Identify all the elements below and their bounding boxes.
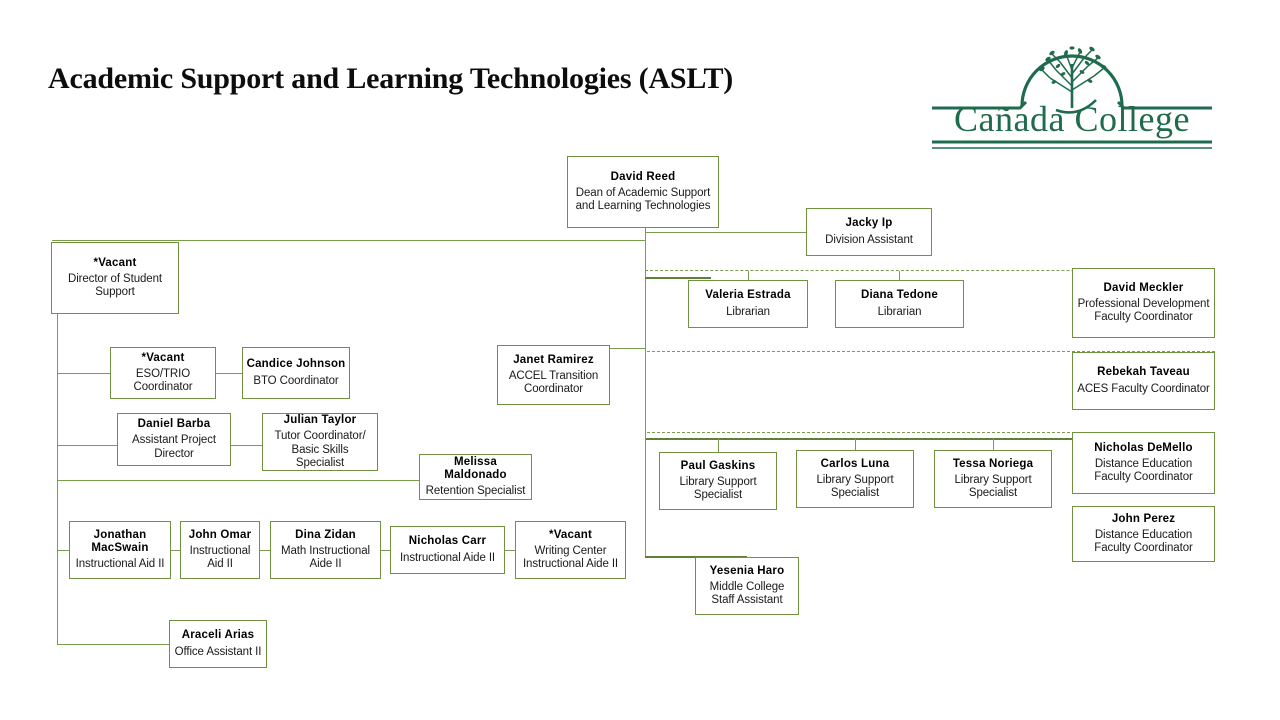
- node-name: Paul Gaskins: [681, 460, 756, 473]
- node-title: Office Assistant II: [175, 646, 262, 659]
- canada-college-logo: Cañada College: [930, 22, 1214, 150]
- node-title: ESO/TRIO Coordinator: [114, 368, 212, 395]
- node-name: Nicholas Carr: [409, 535, 486, 548]
- node-diana-tedone[interactable]: Diana Tedone Librarian: [835, 280, 964, 328]
- connector-dean-stub: [645, 228, 646, 230]
- node-dina-zidan[interactable]: Dina Zidan Math Instructional Aide II: [270, 521, 381, 579]
- node-title: Librarian: [726, 306, 770, 319]
- node-name: Yesenia Haro: [710, 565, 785, 578]
- node-carlos-luna[interactable]: Carlos Luna Library Support Specialist: [796, 450, 914, 508]
- node-name: Dina Zidan: [295, 529, 356, 542]
- node-title: Professional Development Faculty Coordin…: [1076, 298, 1211, 325]
- node-janet-ramirez[interactable]: Janet Ramirez ACCEL Transition Coordinat…: [497, 345, 610, 405]
- node-name: David Meckler: [1104, 282, 1184, 295]
- node-name: Daniel Barba: [138, 418, 211, 431]
- node-vacant-writing-center[interactable]: *Vacant Writing Center Instructional Aid…: [515, 521, 626, 579]
- connector-barba-taylor: [231, 445, 262, 446]
- node-nicholas-demello[interactable]: Nicholas DeMello Distance Education Facu…: [1072, 432, 1215, 494]
- node-title: Instructional Aid II: [184, 545, 256, 572]
- node-title: Distance Education Faculty Coordinator: [1076, 529, 1211, 556]
- node-title: Librarian: [878, 306, 922, 319]
- node-david-reed[interactable]: David Reed Dean of Academic Support and …: [567, 156, 719, 228]
- node-name: Tessa Noriega: [953, 458, 1033, 471]
- node-jonathan-macswain[interactable]: Jonathan MacSwain Instructional Aid II: [69, 521, 171, 579]
- node-name: Candice Johnson: [247, 358, 346, 371]
- node-name: Melissa Maldonado: [423, 456, 528, 483]
- node-name: Carlos Luna: [821, 458, 890, 471]
- connector-librarian-row: [645, 277, 711, 279]
- node-john-perez[interactable]: John Perez Distance Education Faculty Co…: [1072, 506, 1215, 562]
- node-julian-taylor[interactable]: Julian Taylor Tutor Coordinator/ Basic S…: [262, 413, 378, 471]
- connector-to-valeria: [748, 271, 749, 280]
- node-name: *Vacant: [94, 257, 137, 270]
- node-name: Janet Ramirez: [513, 354, 594, 367]
- connector-spine-lower: [645, 438, 646, 557]
- node-name: Nicholas DeMello: [1094, 442, 1192, 455]
- node-nicholas-carr[interactable]: Nicholas Carr Instructional Aide II: [390, 526, 505, 574]
- logo-wordmark: Cañada College: [930, 98, 1214, 140]
- node-valeria-estrada[interactable]: Valeria Estrada Librarian: [688, 280, 808, 328]
- node-title: Distance Education Faculty Coordinator: [1076, 458, 1211, 485]
- node-candice-johnson[interactable]: Candice Johnson BTO Coordinator: [242, 347, 350, 399]
- node-title: ACCEL Transition Coordinator: [501, 370, 606, 397]
- node-yesenia-haro[interactable]: Yesenia Haro Middle College Staff Assist…: [695, 557, 799, 615]
- connector-eso-candice: [215, 373, 242, 374]
- node-title: Tutor Coordinator/ Basic Skills Speciali…: [266, 430, 374, 470]
- node-title: Library Support Specialist: [938, 474, 1048, 501]
- node-name: Rebekah Taveau: [1097, 366, 1190, 379]
- node-name: *Vacant: [549, 529, 592, 542]
- node-title: Writing Center Instructional Aide II: [519, 545, 622, 572]
- node-name: Valeria Estrada: [705, 289, 790, 302]
- node-title: Assistant Project Director: [121, 434, 227, 461]
- node-name: Jacky Ip: [846, 217, 893, 230]
- node-title: ACES Faculty Coordinator: [1077, 383, 1209, 396]
- org-chart-canvas: Academic Support and Learning Technologi…: [0, 0, 1280, 720]
- connector-zidan-carr: [381, 550, 390, 551]
- node-paul-gaskins[interactable]: Paul Gaskins Library Support Specialist: [659, 452, 777, 510]
- node-title: Dean of Academic Support and Learning Te…: [571, 187, 715, 214]
- node-name: Jonathan MacSwain: [73, 529, 167, 556]
- node-title: Director of Student Support: [55, 273, 175, 300]
- page-title: Academic Support and Learning Technologi…: [48, 62, 733, 96]
- connector-dean-to-left: [52, 240, 646, 241]
- node-title: Middle College Staff Assistant: [699, 581, 795, 608]
- connector-omar-zidan: [260, 550, 270, 551]
- node-title: Division Assistant: [825, 234, 913, 247]
- node-name: John Perez: [1112, 513, 1175, 526]
- connector-dean-spine: [645, 228, 646, 439]
- connector-director-to-eso: [57, 373, 110, 374]
- node-name: Araceli Arias: [182, 629, 255, 642]
- node-title: Instructional Aide II: [400, 552, 495, 565]
- node-jacky-ip[interactable]: Jacky Ip Division Assistant: [806, 208, 932, 256]
- connector-director-to-melissa: [57, 480, 419, 481]
- connector-to-paul: [718, 438, 719, 453]
- node-araceli-arias[interactable]: Araceli Arias Office Assistant II: [169, 620, 267, 668]
- node-title: Retention Specialist: [426, 485, 526, 498]
- node-name: David Reed: [611, 171, 676, 184]
- connector-dean-to-jacky: [645, 232, 806, 233]
- connector-library-row: [645, 438, 1110, 440]
- node-daniel-barba[interactable]: Daniel Barba Assistant Project Director: [117, 413, 231, 466]
- connector-macswain-omar: [171, 550, 180, 551]
- node-david-meckler[interactable]: David Meckler Professional Development F…: [1072, 268, 1215, 338]
- node-vacant-eso-trio[interactable]: *Vacant ESO/TRIO Coordinator: [110, 347, 216, 399]
- connector-carr-vacant: [505, 550, 515, 551]
- connector-director-to-araceli: [57, 644, 169, 645]
- node-name: Julian Taylor: [284, 414, 357, 427]
- connector-director-to-aides: [57, 550, 69, 551]
- node-rebekah-taveau[interactable]: Rebekah Taveau ACES Faculty Coordinator: [1072, 352, 1215, 410]
- node-tessa-noriega[interactable]: Tessa Noriega Library Support Specialist: [934, 450, 1052, 508]
- node-title: Library Support Specialist: [800, 474, 910, 501]
- node-title: Math Instructional Aide II: [274, 545, 377, 572]
- node-name: John Omar: [189, 529, 252, 542]
- connector-director-to-barba: [57, 445, 117, 446]
- node-title: BTO Coordinator: [253, 375, 338, 388]
- connector-to-diana: [899, 271, 900, 280]
- node-john-omar[interactable]: John Omar Instructional Aid II: [180, 521, 260, 579]
- node-vacant-director-student-support[interactable]: *Vacant Director of Student Support: [51, 242, 179, 314]
- node-name: *Vacant: [142, 352, 185, 365]
- node-melissa-maldonado[interactable]: Melissa Maldonado Retention Specialist: [419, 454, 532, 500]
- node-title: Library Support Specialist: [663, 476, 773, 503]
- node-name: Diana Tedone: [861, 289, 938, 302]
- node-title: Instructional Aid II: [76, 558, 165, 571]
